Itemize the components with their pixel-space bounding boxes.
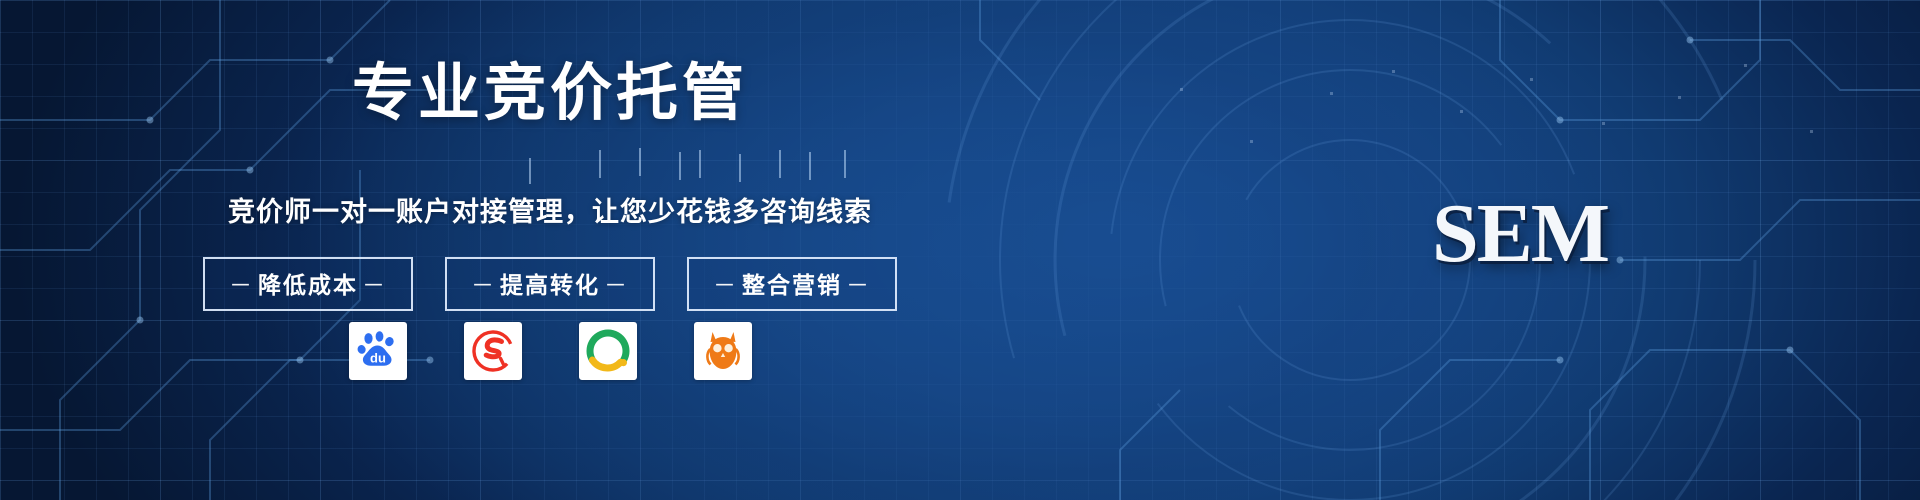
feature-badge-label: 降低成本	[258, 272, 358, 298]
dash-right-icon: －	[842, 272, 875, 298]
dash-right-icon: －	[600, 272, 633, 298]
svg-text:du: du	[370, 351, 386, 366]
baidu-logo[interactable]: du	[349, 322, 407, 380]
feature-badge-marketing[interactable]: －整合营销－	[687, 257, 897, 311]
360-ring-icon	[586, 329, 630, 373]
sogou-logo[interactable]	[464, 322, 522, 380]
dash-right-icon: －	[358, 272, 391, 298]
sem-brand-mark: SEM	[1380, 192, 1660, 276]
dash-left-icon: －	[467, 272, 500, 298]
page-subtitle: 竞价师一对一账户对接管理，让您少花钱多咨询线索	[0, 196, 1100, 228]
360-logo[interactable]	[579, 322, 637, 380]
sogou-s-icon	[470, 328, 516, 374]
baidu-paw-icon: du	[356, 329, 400, 373]
feature-badge-conversion[interactable]: －提高转化－	[445, 257, 655, 311]
feature-badge-list: －降低成本－ －提高转化－ －整合营销－	[0, 257, 1100, 311]
platform-logo-list: du	[0, 322, 1100, 380]
sem-hosting-banner: 专业竞价托管 竞价师一对一账户对接管理，让您少花钱多咨询线索 －降低成本－ －提…	[0, 0, 1920, 500]
dash-left-icon: －	[225, 272, 258, 298]
dash-left-icon: －	[709, 272, 742, 298]
feature-badge-label: 提高转化	[500, 272, 600, 298]
feature-badge-label: 整合营销	[742, 272, 842, 298]
shenma-logo[interactable]	[694, 322, 752, 380]
page-title: 专业竞价托管	[0, 63, 1100, 125]
banner-content: 专业竞价托管 竞价师一对一账户对接管理，让您少花钱多咨询线索 －降低成本－ －提…	[0, 0, 1920, 500]
shenma-mascot-icon	[701, 329, 745, 373]
feature-badge-cost[interactable]: －降低成本－	[203, 257, 413, 311]
